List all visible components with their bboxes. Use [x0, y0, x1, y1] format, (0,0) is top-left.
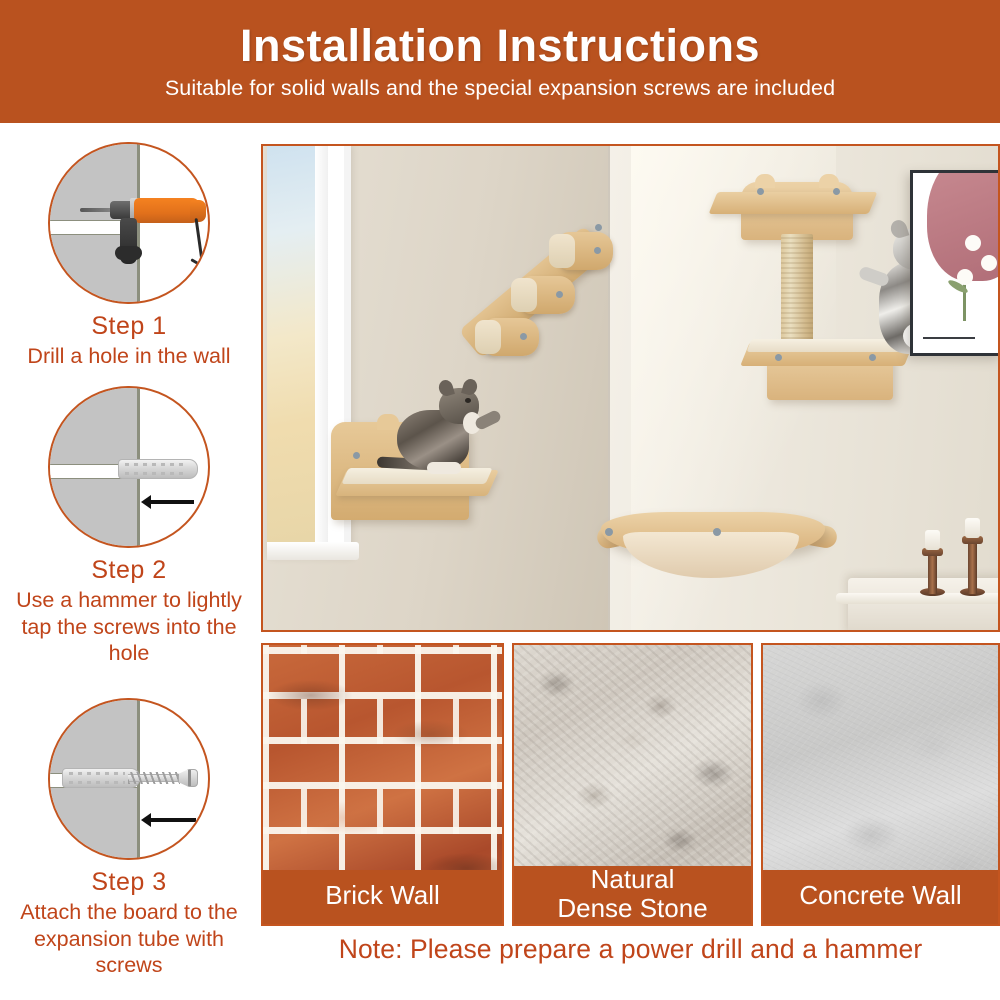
mounting-bolt	[556, 291, 563, 298]
cat-wall-steps	[459, 218, 609, 366]
step-3-description: Attach the board to the expansion tube w…	[0, 899, 258, 979]
mantel-shelf	[848, 578, 1000, 632]
main-product-photo	[261, 144, 1000, 632]
wall-anchor-icon	[118, 459, 198, 479]
step-pad	[549, 234, 575, 268]
step-2-block: Step 2 Use a hammer to lightly tap the s…	[0, 386, 258, 667]
window-sill	[267, 542, 359, 560]
drill-bit-icon	[80, 208, 114, 212]
screw-slot-icon	[188, 770, 191, 786]
step-2-label: Step 2	[0, 556, 258, 585]
mounting-bolt	[595, 224, 602, 231]
art-caption-line	[923, 337, 975, 339]
step-1-label: Step 1	[0, 312, 258, 341]
mounting-bolt	[594, 247, 601, 254]
steps-column: Step 1 Drill a hole in the wall Step 2 U…	[0, 128, 258, 1000]
art-flower	[981, 255, 997, 271]
left-arrow-icon	[150, 500, 194, 504]
framed-wall-art	[910, 170, 1000, 356]
wall-type-concrete: Concrete Wall	[761, 643, 1000, 926]
mounting-bolt	[775, 354, 782, 361]
left-arrow-icon	[150, 818, 196, 822]
step-3-block: Step 3 Attach the board to the expansion…	[0, 698, 258, 979]
step-3-illustration	[48, 698, 210, 860]
step-2-illustration	[48, 386, 210, 548]
sisal-scratching-post	[781, 234, 813, 354]
hammock-sling	[623, 532, 799, 578]
mounting-bolt	[713, 528, 721, 536]
wall-type-natural-dense-stone: Natural Dense Stone	[512, 643, 753, 926]
header-banner: Installation Instructions Suitable for s…	[0, 0, 1000, 123]
wall-type-brick: Brick Wall	[261, 643, 504, 926]
candle-wax	[925, 530, 940, 550]
step-pad	[511, 278, 537, 312]
candlestick-stem	[928, 554, 937, 594]
candlestick-stem	[968, 542, 977, 594]
screw-icon	[128, 768, 200, 788]
mounting-bolt	[757, 188, 764, 195]
wall-type-label-brick: Brick Wall	[263, 870, 502, 924]
wall-type-label-stone-line1: Natural	[557, 865, 707, 893]
drill-icon	[94, 184, 210, 276]
screw-threads-icon	[128, 772, 180, 784]
window-glass	[267, 146, 315, 542]
mounting-bolt	[833, 188, 840, 195]
step-1-illustration	[48, 142, 210, 304]
cat-raised-paw	[858, 265, 891, 287]
step-3-label: Step 3	[0, 868, 258, 897]
step-1-description: Drill a hole in the wall	[0, 343, 258, 370]
drill-grip-icon	[115, 246, 142, 260]
cat-brown-tabby	[381, 382, 497, 490]
mounting-bolt	[520, 333, 527, 340]
mounting-bolt	[353, 452, 360, 459]
drill-rear-icon	[190, 200, 206, 222]
climbing-step	[485, 318, 539, 356]
tower-top-platform	[709, 192, 878, 214]
wall-type-label-stone: Natural Dense Stone	[514, 866, 751, 924]
wall-types-row: Brick Wall Natural Dense Stone Concrete …	[261, 643, 1000, 926]
page-title: Installation Instructions	[240, 22, 760, 69]
page-subtitle: Suitable for solid walls and the special…	[165, 76, 835, 101]
wall-type-label-concrete: Concrete Wall	[763, 870, 998, 924]
cat-eye	[465, 398, 471, 403]
step-pad	[475, 320, 501, 354]
candle-wax	[965, 518, 980, 538]
note-text: Note: Please prepare a power drill and a…	[261, 934, 1000, 965]
mounting-bolt	[605, 528, 613, 536]
wall-type-label-stone-line2: Dense Stone	[557, 894, 707, 922]
step-1-block: Step 1 Drill a hole in the wall	[0, 142, 258, 370]
climbing-step	[521, 276, 575, 314]
window-mullion	[315, 146, 328, 542]
step-2-description: Use a hammer to lightly tap the screws i…	[0, 587, 258, 667]
art-flower	[957, 269, 973, 285]
art-flower	[965, 235, 981, 251]
cat-wall-hammock	[601, 506, 831, 598]
climbing-step	[559, 232, 613, 270]
cat-paw	[427, 462, 461, 474]
